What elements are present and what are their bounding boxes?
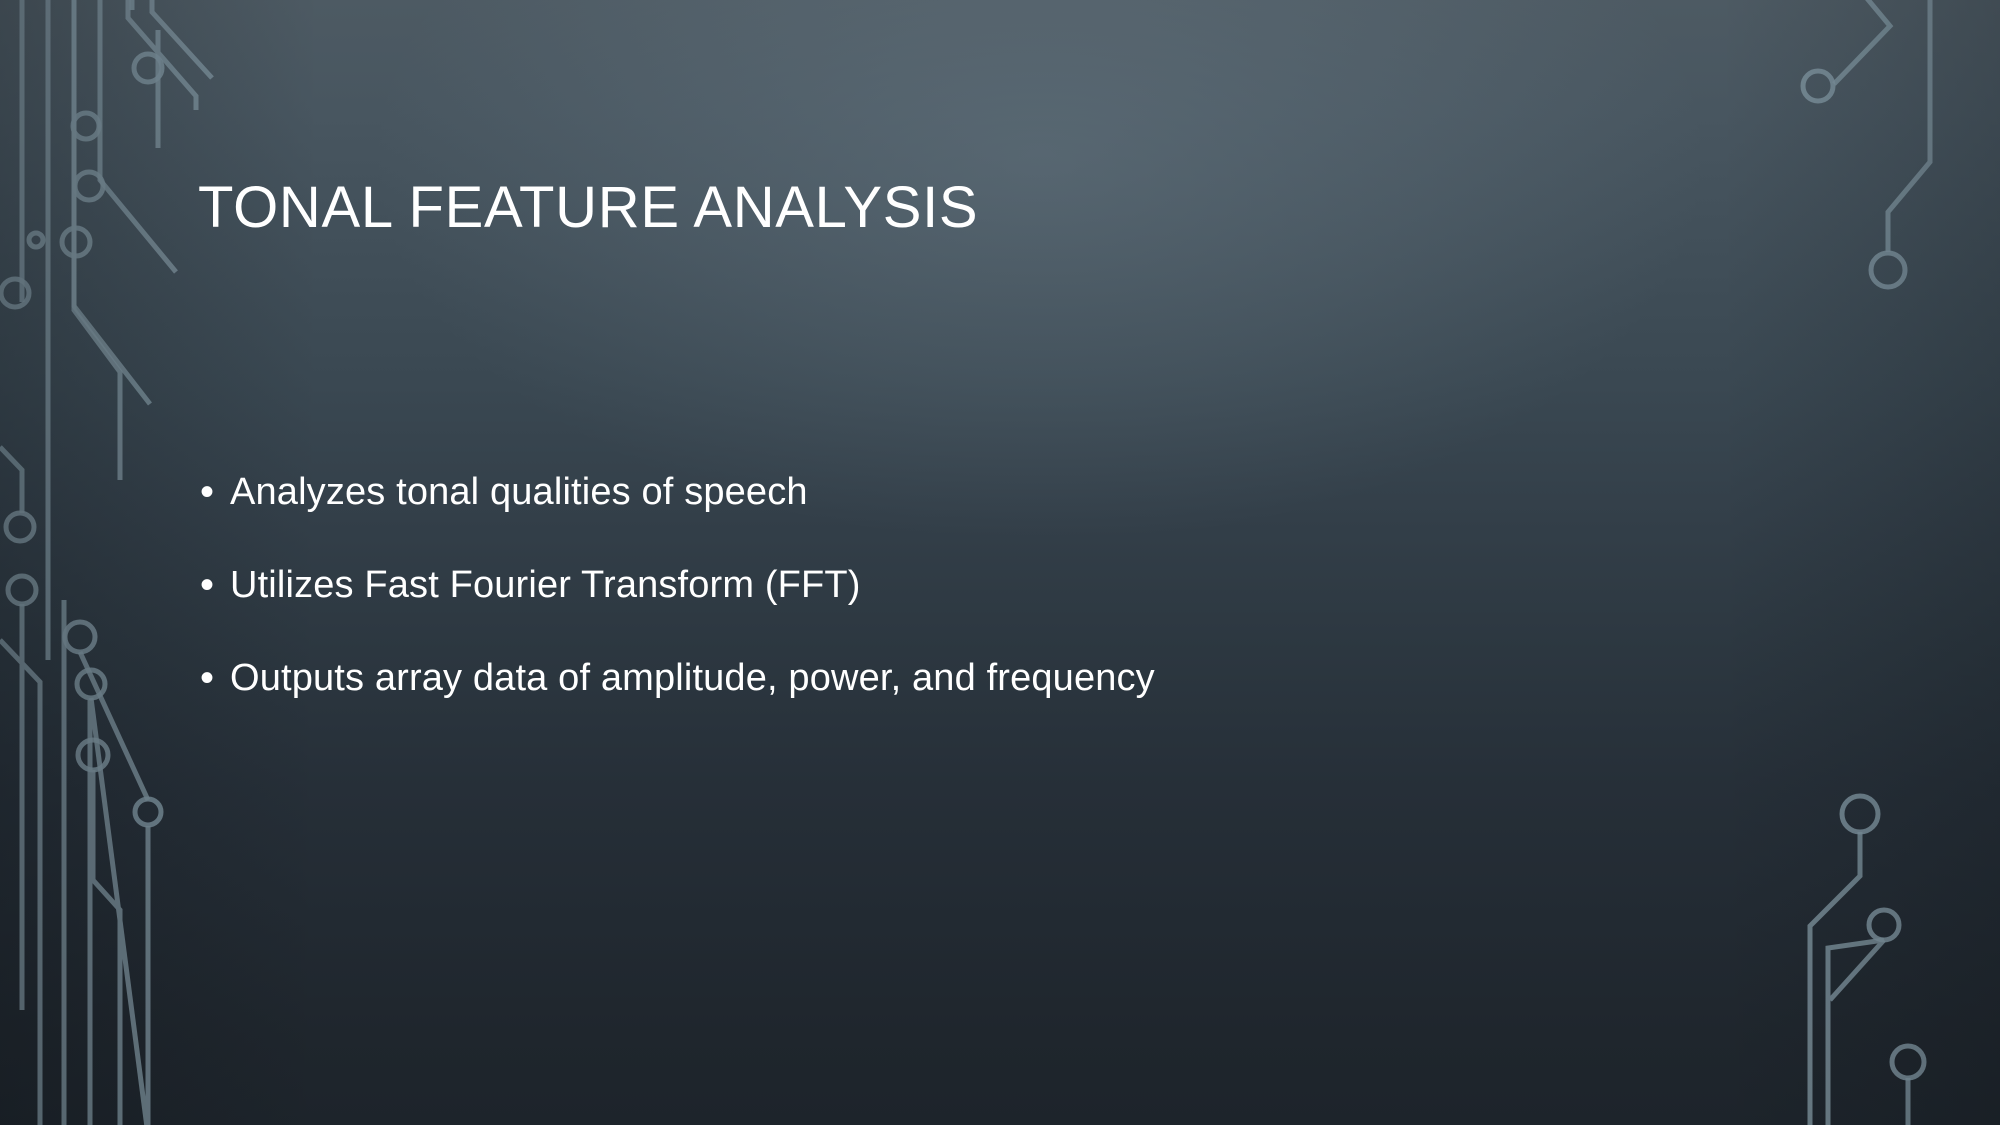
slide: TONAL FEATURE ANALYSIS • Analyzes tonal … <box>0 0 2000 1125</box>
slide-title: TONAL FEATURE ANALYSIS <box>198 178 978 238</box>
bullet-marker-icon: • <box>200 656 230 700</box>
slide-content: TONAL FEATURE ANALYSIS • Analyzes tonal … <box>0 0 2000 1125</box>
bullet-text: Outputs array data of amplitude, power, … <box>230 656 1155 700</box>
bullet-marker-icon: • <box>200 470 230 514</box>
bullet-list: • Analyzes tonal qualities of speech • U… <box>200 470 1700 749</box>
bullet-item: • Utilizes Fast Fourier Transform (FFT) <box>200 563 1700 656</box>
bullet-text: Utilizes Fast Fourier Transform (FFT) <box>230 563 861 607</box>
bullet-item: • Analyzes tonal qualities of speech <box>200 470 1700 563</box>
bullet-marker-icon: • <box>200 563 230 607</box>
bullet-text: Analyzes tonal qualities of speech <box>230 470 808 514</box>
bullet-item: • Outputs array data of amplitude, power… <box>200 656 1700 749</box>
